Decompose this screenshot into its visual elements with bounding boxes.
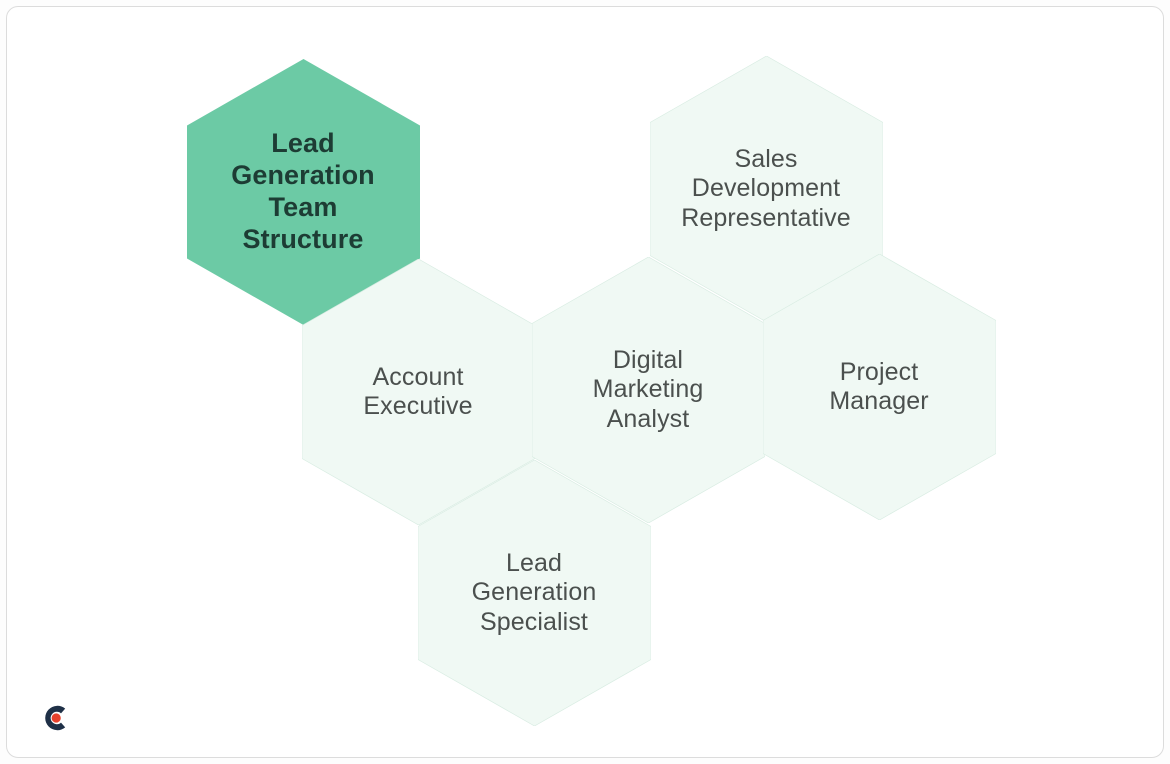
hexagon-shape [418, 460, 651, 726]
brand-c-logo [39, 701, 73, 735]
screenshot-canvas: Lead Generation Team StructureSales Deve… [0, 0, 1170, 764]
hexagon-diagram: Lead Generation Team StructureSales Deve… [7, 7, 1163, 757]
hexagon-shape [763, 254, 996, 520]
hexagon-lead-generation-specialist[interactable]: Lead Generation Specialist [418, 460, 651, 726]
hexagon-project-manager[interactable]: Project Manager [763, 254, 996, 520]
diagram-card: Lead Generation Team StructureSales Deve… [6, 6, 1164, 758]
